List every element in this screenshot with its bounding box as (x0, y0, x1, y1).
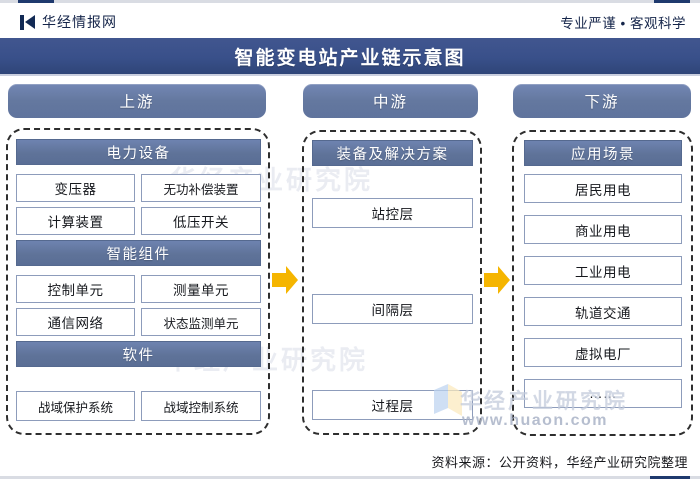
title-band: 智能变电站产业链示意图 (0, 38, 700, 74)
item-label: 战域保护系统 (38, 397, 113, 416)
item-box[interactable]: 低压开关 (141, 207, 261, 235)
source-note: 资料来源：公开资料，华经产业研究院整理 (431, 452, 688, 471)
item-label: 变压器 (55, 178, 97, 198)
item-box[interactable]: 控制单元 (16, 275, 135, 303)
section-header-equipment-solutions: 装备及解决方案 (312, 140, 473, 166)
title-underline (0, 74, 700, 76)
item-box[interactable]: 过程层 (312, 390, 473, 420)
item-box[interactable]: 变压器 (16, 174, 135, 202)
top-accent-left (18, 0, 54, 3)
item-box[interactable]: 战域保护系统 (16, 391, 135, 421)
item-box[interactable]: 轨道交通 (524, 297, 682, 326)
item-box[interactable]: 无功补偿装置 (141, 174, 261, 202)
column-header-midstream: 中游 (303, 84, 478, 118)
item-label: 间隔层 (372, 299, 414, 319)
item-label: 控制单元 (48, 279, 104, 299)
column-header-downstream: 下游 (513, 84, 691, 118)
item-box[interactable]: 通信网络 (16, 308, 135, 336)
column-header-upstream: 上游 (8, 84, 266, 118)
item-label: …… (589, 386, 617, 401)
section-header-application-scenarios: 应用场景 (524, 140, 682, 166)
item-label: 状态监测单元 (163, 313, 238, 332)
item-label: 轨道交通 (575, 302, 631, 322)
item-label: 计算装置 (48, 211, 104, 231)
section-header-label: 智能组件 (107, 243, 171, 264)
section-header-label: 软件 (123, 344, 155, 365)
item-box[interactable]: 站控层 (312, 198, 473, 228)
item-box[interactable]: 虚拟电厂 (524, 338, 682, 367)
item-label: 战域控制系统 (163, 397, 238, 416)
item-label: 工业用电 (575, 261, 631, 281)
column-header-label: 中游 (373, 90, 408, 112)
arrow-right-icon (272, 265, 298, 295)
infographic-page: 华经情报网 专业严谨 • 客观科学 智能变电站产业链示意图 华经产业研究院 华经… (0, 0, 700, 484)
section-header-software: 软件 (16, 341, 261, 367)
section-header-label: 装备及解决方案 (337, 143, 449, 164)
brand-name: 华经情报网 (42, 12, 117, 32)
item-label: 低压开关 (173, 211, 229, 231)
item-label: 通信网络 (48, 312, 104, 332)
item-label: 虚拟电厂 (575, 343, 631, 363)
section-header-label: 应用场景 (571, 143, 635, 164)
item-label: 站控层 (372, 203, 414, 223)
footer-accent (650, 476, 690, 479)
item-box[interactable]: 间隔层 (312, 294, 473, 324)
item-label: 过程层 (372, 395, 414, 415)
footer-line (0, 476, 700, 479)
brand-slogan: 专业严谨 • 客观科学 (560, 12, 686, 32)
item-box[interactable]: 测量单元 (141, 275, 261, 303)
column-header-label: 上游 (119, 90, 154, 112)
item-box[interactable]: 居民用电 (524, 174, 682, 203)
section-header-smart-components: 智能组件 (16, 240, 261, 266)
arrow-right-icon (484, 265, 510, 295)
section-header-power-equipment: 电力设备 (16, 139, 261, 165)
item-box[interactable]: 工业用电 (524, 256, 682, 285)
brand: 华经情报网 (20, 12, 117, 32)
item-box[interactable]: …… (524, 379, 682, 408)
item-label: 测量单元 (173, 279, 229, 299)
item-box[interactable]: 计算装置 (16, 207, 135, 235)
top-brand-bar: 华经情报网 专业严谨 • 客观科学 (0, 0, 700, 38)
section-header-label: 电力设备 (107, 142, 171, 163)
item-label: 商业用电 (575, 220, 631, 240)
column-header-label: 下游 (584, 90, 619, 112)
item-label: 无功补偿装置 (163, 179, 238, 198)
flag-logo-icon (20, 15, 35, 30)
item-box[interactable]: 状态监测单元 (141, 308, 261, 336)
item-box[interactable]: 战域控制系统 (141, 391, 261, 421)
item-box[interactable]: 商业用电 (524, 215, 682, 244)
page-title: 智能变电站产业链示意图 (234, 43, 465, 70)
top-accent-right (654, 0, 690, 3)
item-label: 居民用电 (575, 179, 631, 199)
